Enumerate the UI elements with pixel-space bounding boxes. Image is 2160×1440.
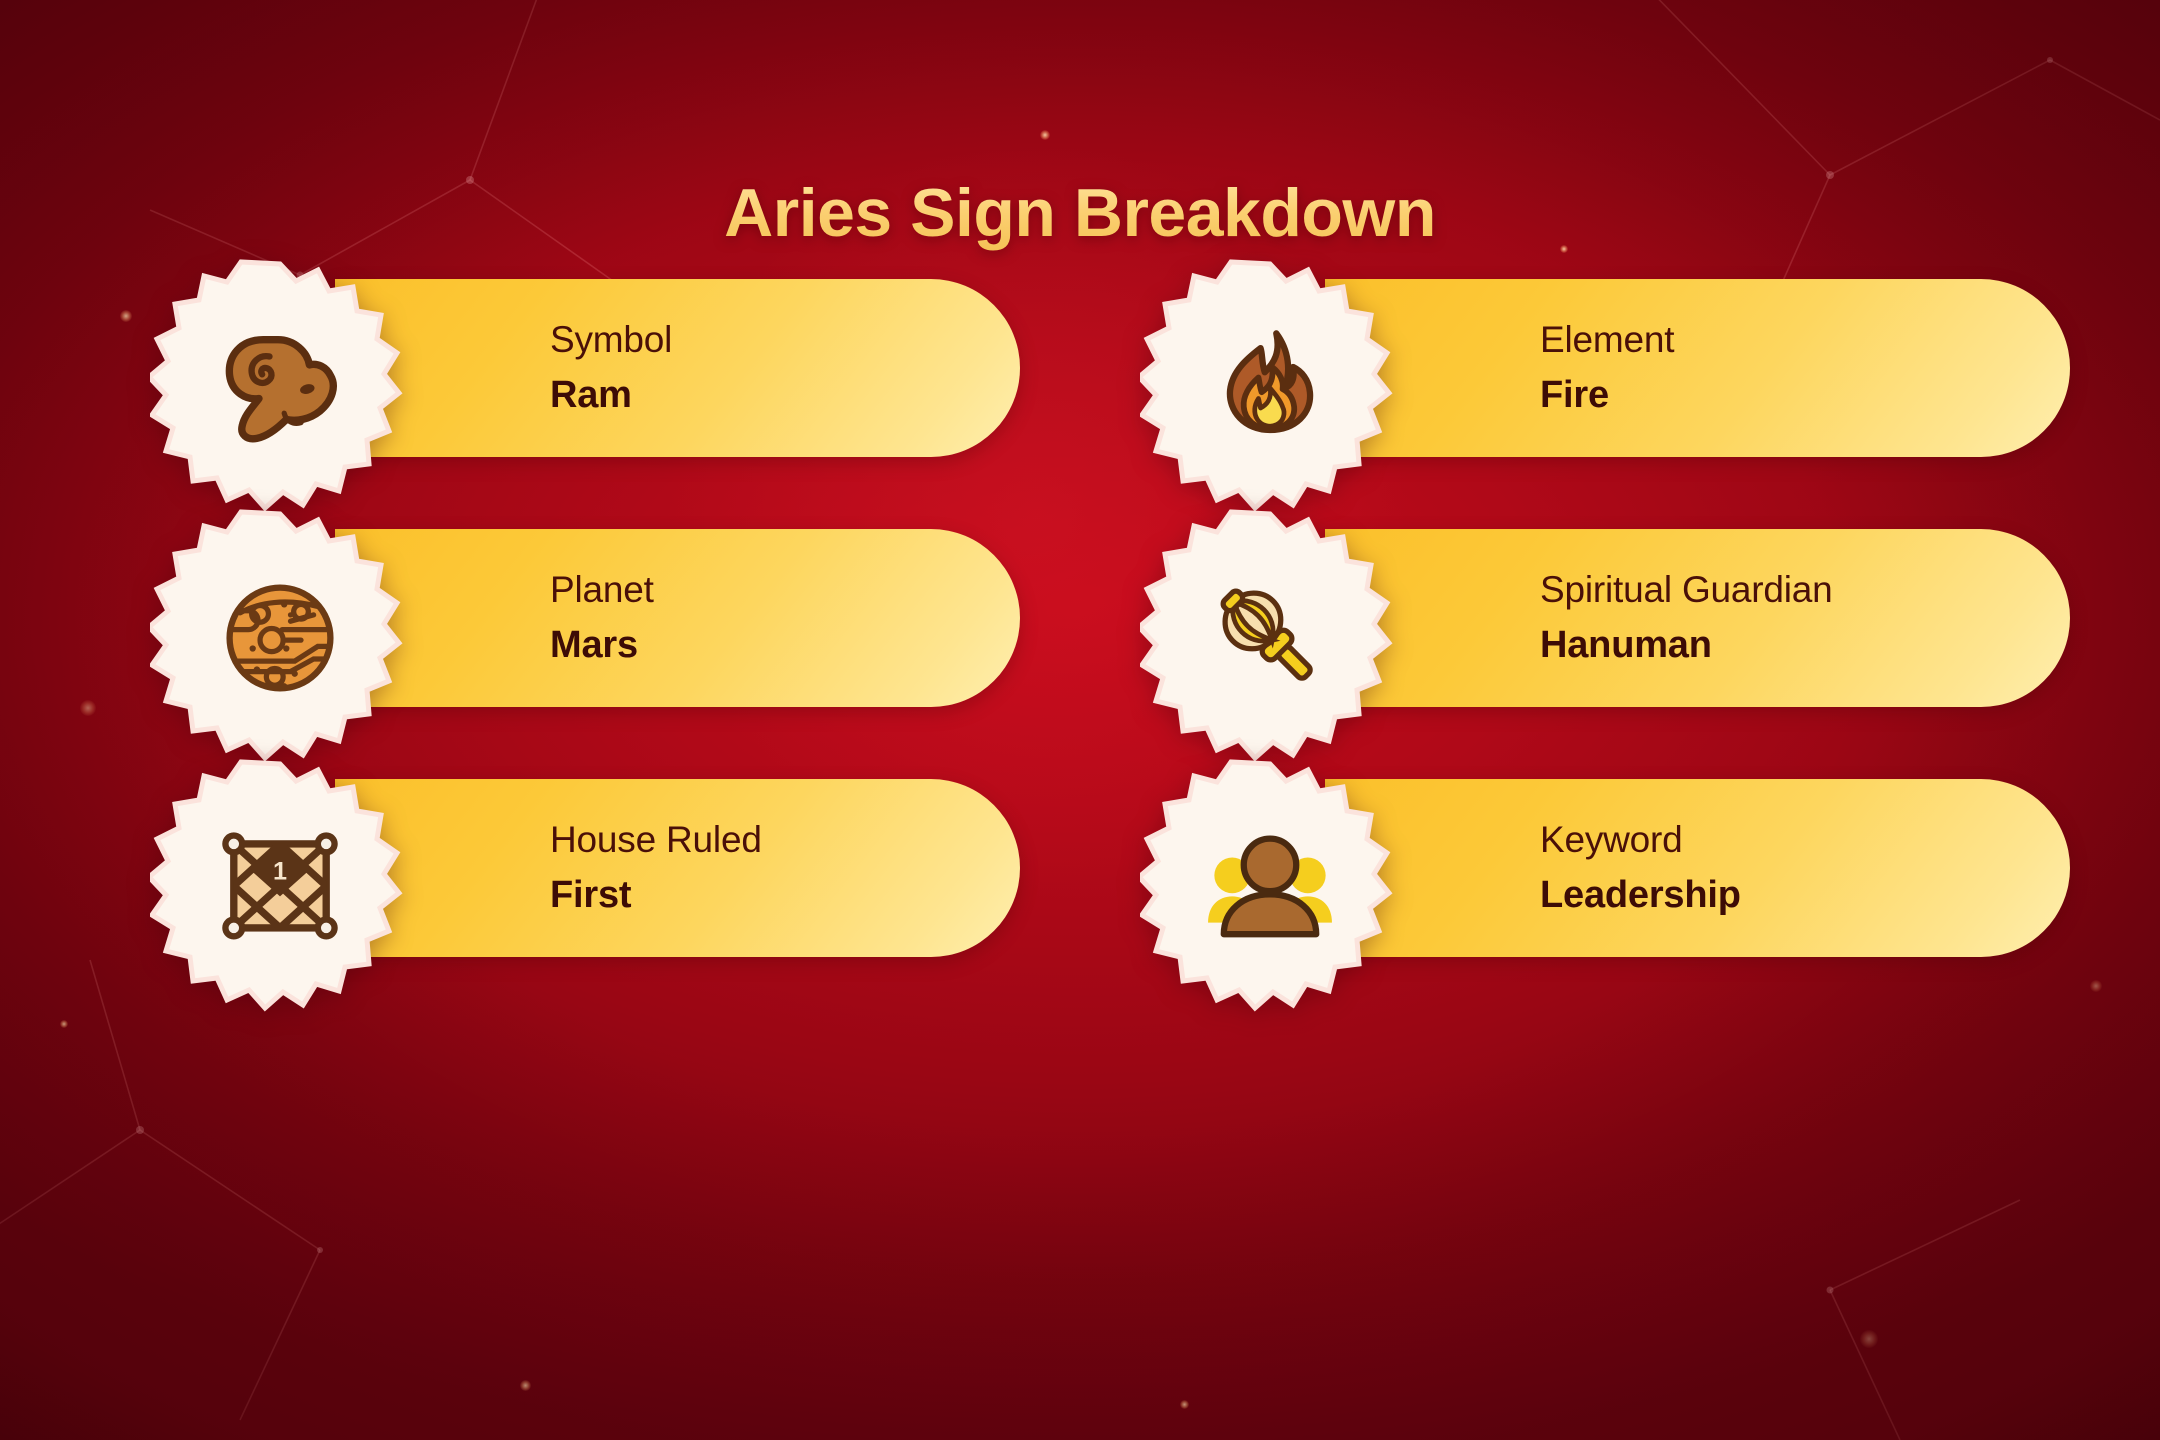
infographic-canvas: Aries Sign Breakdown Symbol Ram [0, 0, 2160, 1440]
card-pill: Symbol Ram [335, 279, 1020, 457]
card-symbol[interactable]: Symbol Ram [150, 258, 1020, 450]
badge-house-ruled: 1 [150, 758, 410, 1018]
card-value: Fire [1540, 373, 2070, 417]
badge-planet [150, 508, 410, 768]
card-planet[interactable]: Planet Mars [150, 508, 1020, 700]
card-keyword[interactable]: Keyword Leadership [1140, 758, 2010, 950]
card-pill: Keyword Leadership [1325, 779, 2070, 957]
card-spiritual-guardian[interactable]: Spiritual Guardian Hanuman [1140, 508, 2010, 700]
card-pill: Element Fire [1325, 279, 2070, 457]
card-value: Leadership [1540, 873, 2070, 917]
kundali-chart-icon: 1 [217, 825, 343, 951]
card-label: Element [1540, 319, 2070, 362]
page-title: Aries Sign Breakdown [0, 174, 2160, 252]
card-value: Ram [550, 373, 1020, 417]
card-label: House Ruled [550, 819, 1020, 862]
attribute-grid: Symbol Ram [150, 258, 2010, 950]
card-label: Symbol [550, 319, 1020, 362]
card-label: Spiritual Guardian [1540, 569, 2070, 612]
card-element[interactable]: Element Fire [1140, 258, 2010, 450]
badge-spiritual-guardian [1140, 508, 1400, 768]
house-number: 1 [273, 858, 287, 886]
card-pill: House Ruled First [335, 779, 1020, 957]
card-value: Mars [550, 623, 1020, 667]
planet-mars-icon [217, 575, 343, 701]
card-value: First [550, 873, 1020, 917]
badge-keyword [1140, 758, 1400, 1018]
card-label: Keyword [1540, 819, 2070, 862]
badge-symbol [150, 258, 410, 518]
card-pill: Planet Mars [335, 529, 1020, 707]
ram-head-icon [217, 325, 343, 451]
card-label: Planet [550, 569, 1020, 612]
badge-element [1140, 258, 1400, 518]
card-value: Hanuman [1540, 623, 2070, 667]
gada-mace-icon [1207, 575, 1333, 701]
leadership-people-icon [1207, 825, 1333, 951]
flame-icon [1207, 325, 1333, 451]
card-pill: Spiritual Guardian Hanuman [1325, 529, 2070, 707]
card-house-ruled[interactable]: House Ruled First [150, 758, 1020, 950]
